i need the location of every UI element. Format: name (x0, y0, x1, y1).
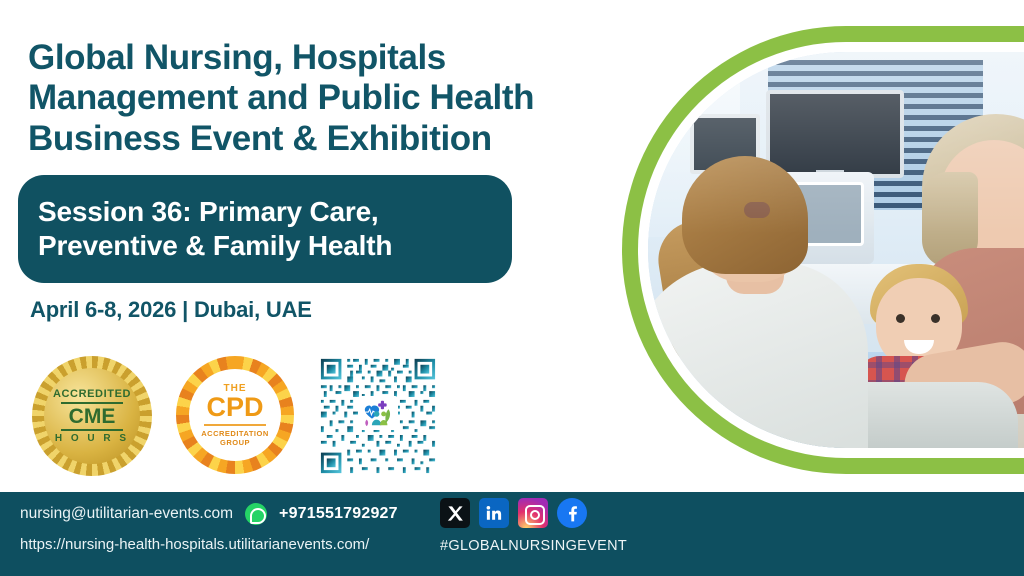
qr-code[interactable] (318, 356, 438, 474)
contact-phone[interactable]: +971551792927 (279, 505, 398, 523)
cme-seal-main-text: CME (69, 406, 116, 427)
event-photo (648, 52, 1024, 448)
whatsapp-icon[interactable] (245, 503, 267, 525)
instagram-icon[interactable] (518, 498, 548, 528)
session-badge: Session 36: Primary Care, Preventive & F… (18, 175, 512, 283)
photo-block (600, 0, 1024, 492)
cme-seal-top-text: ACCREDITED (53, 388, 131, 400)
event-title-line-1: Global Nursing, Hospitals (28, 38, 588, 78)
cme-accreditation-seal: ACCREDITED CME H O U R S (32, 356, 152, 476)
photo-child-eye-right (931, 314, 940, 323)
social-links (440, 498, 587, 528)
event-title: Global Nursing, Hospitals Management and… (28, 38, 588, 159)
cpd-main-label: CPD (206, 394, 263, 421)
cpd-accreditation-badge: THE CPD ACCREDITATION GROUP (176, 356, 294, 474)
cpd-sub-label: ACCREDITATION GROUP (201, 429, 268, 448)
session-title-line-1: Session 36: Primary Care, (38, 195, 392, 229)
x-twitter-icon[interactable] (440, 498, 470, 528)
linkedin-glyph (485, 504, 503, 522)
cme-seal-divider-top (61, 402, 123, 404)
contact-email[interactable]: nursing@utilitarian-events.com (20, 505, 233, 523)
event-title-line-2: Management and Public Health (28, 78, 588, 118)
linkedin-icon[interactable] (479, 498, 509, 528)
contact-row: nursing@utilitarian-events.com +97155179… (20, 503, 398, 525)
photo-light-overlay (648, 52, 1024, 234)
cpd-badge-face: THE CPD ACCREDITATION GROUP (189, 369, 281, 461)
facebook-icon[interactable] (557, 498, 587, 528)
facebook-glyph (562, 503, 582, 523)
qr-center-logo (358, 396, 398, 430)
date-location: April 6-8, 2026 | Dubai, UAE (30, 297, 312, 323)
event-hashtag: #GLOBALNURSINGEVENT (440, 538, 627, 554)
event-title-line-3: Business Event & Exhibition (28, 119, 588, 159)
cme-seal-divider-bottom (61, 429, 123, 431)
cme-seal-face: ACCREDITED CME H O U R S (44, 368, 140, 464)
footer-bar: nursing@utilitarian-events.com +97155179… (0, 492, 1024, 576)
accreditation-badges: ACCREDITED CME H O U R S THE CPD ACCREDI… (32, 356, 438, 476)
cme-seal-bottom-text: H O U R S (55, 433, 129, 444)
conference-banner: Global Nursing, Hospitals Management and… (0, 0, 1024, 576)
cpd-sub-line-1: ACCREDITATION (201, 429, 268, 438)
session-title: Session 36: Primary Care, Preventive & F… (38, 195, 392, 262)
website-url[interactable]: https://nursing-health-hospitals.utilita… (20, 536, 369, 553)
cpd-sub-line-2: GROUP (201, 438, 268, 447)
qr-logo-mark (359, 397, 397, 429)
x-twitter-glyph (447, 505, 464, 522)
session-title-line-2: Preventive & Family Health (38, 229, 392, 263)
photo-child-eye-left (896, 314, 905, 323)
cpd-divider (204, 424, 266, 426)
